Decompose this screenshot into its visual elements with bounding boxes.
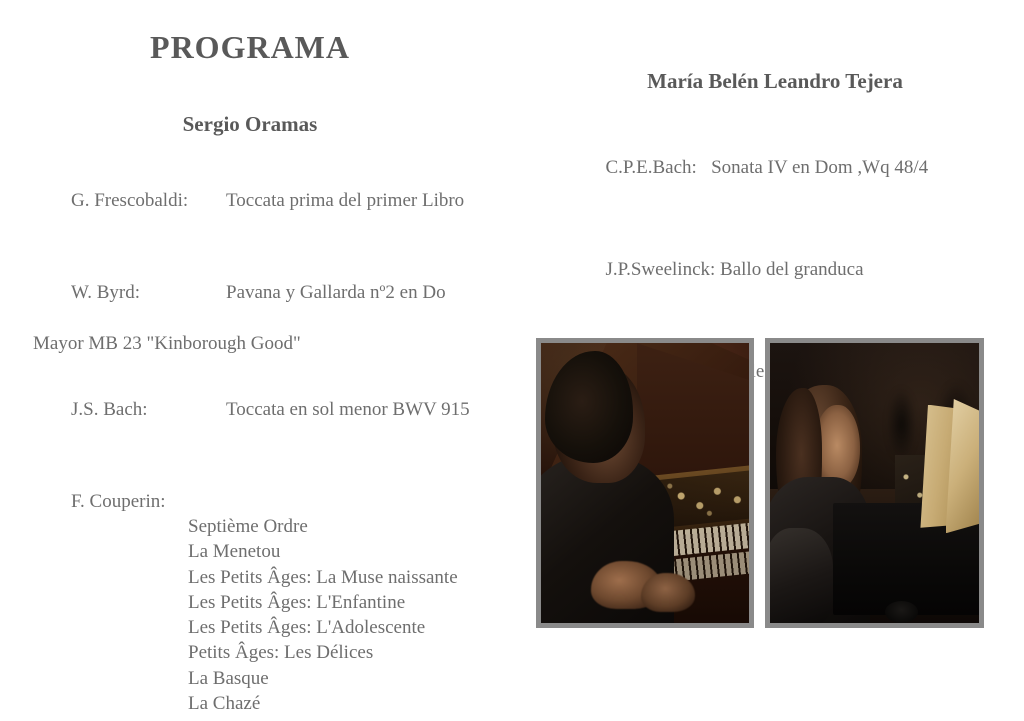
photo-image <box>541 343 749 623</box>
harpsichord-stand <box>885 601 918 623</box>
composer-name: J.S. Bach: <box>71 397 226 422</box>
program-left-column: G. Frescobaldi:Toccata prima del primer … <box>33 163 503 721</box>
composer-name: W. Byrd: <box>71 280 226 305</box>
work-title: Septième Ordre <box>188 514 503 539</box>
composer-name: C.P.E.Bach: <box>606 157 697 178</box>
program-entry: C.P.E.Bach: Sonata IV en Dom ,Wq 48/4 <box>577 130 1007 206</box>
work-title: Toccata en sol menor BWV 915 <box>226 397 470 422</box>
performer-sleeve <box>770 528 833 623</box>
program-entry: W. Byrd:Pavana y Gallarda nº2 en Do Mayo… <box>33 255 503 356</box>
work-title: Les Petits Âges: La Muse naissante <box>188 565 503 590</box>
work-title: Pavana y Gallarda nº2 en Do <box>226 280 446 305</box>
work-title: La Chazé <box>188 691 503 716</box>
work-title: La Menetou <box>188 539 503 564</box>
composer-name: G. Frescobaldi: <box>71 188 226 213</box>
performer-name-right: María Belén Leandro Tejera <box>540 70 1010 93</box>
work-title: Sonata IV en Dom ,Wq 48/4 <box>711 157 928 178</box>
photo-image <box>770 343 979 623</box>
performer-name-left: Sergio Oramas <box>0 113 500 136</box>
performer-hand-right <box>641 573 695 612</box>
work-title: Petits Âges: Les Délices <box>188 640 503 665</box>
work-title: Les Amusemens <box>188 716 503 721</box>
page-title: PROGRAMA <box>0 30 500 65</box>
work-title: Ballo del granduca <box>720 259 864 280</box>
work-title-continued: Mayor MB 23 "Kinborough Good" <box>33 331 503 356</box>
background-blur-shape <box>887 388 916 461</box>
composer-name: F. Couperin: <box>71 489 226 514</box>
program-page: PROGRAMA Sergio Oramas María Belén Leand… <box>0 0 1024 721</box>
photo-sergio-oramas <box>536 338 754 628</box>
work-title: Toccata prima del primer Libro <box>226 188 464 213</box>
work-title: Les Petits Âges: L'Enfantine <box>188 590 503 615</box>
program-entry: J.P.Sweelinck: Ballo del granduca <box>577 232 1007 308</box>
program-entry: G. Frescobaldi:Toccata prima del primer … <box>33 163 503 239</box>
program-entry: J.S. Bach:Toccata en sol menor BWV 915 <box>33 372 503 448</box>
work-title: La Basque <box>188 666 503 691</box>
photo-maria-belen-leandro-tejera <box>765 338 984 628</box>
work-title: Les Petits Âges: L'Adolescente <box>188 615 503 640</box>
work-list: Septième Ordre La Menetou Les Petits Âge… <box>188 514 503 721</box>
composer-name: J.P.Sweelinck: <box>606 259 716 280</box>
program-entry: F. Couperin: Septième Ordre La Menetou L… <box>33 464 503 721</box>
